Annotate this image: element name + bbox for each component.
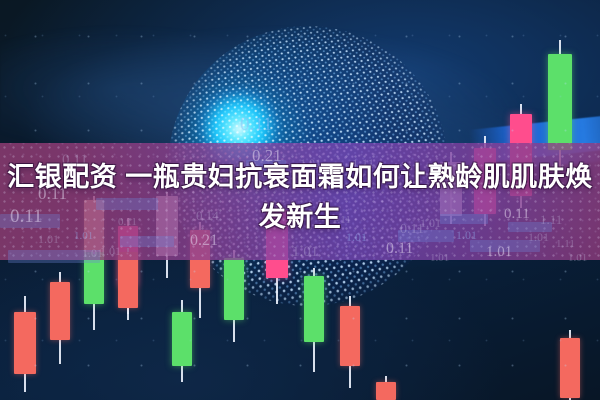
price-number: 0.11 xyxy=(240,114,273,136)
price-number: 1.01 xyxy=(430,252,449,264)
data-bar xyxy=(120,236,174,247)
price-number: 1.01 xyxy=(292,244,318,261)
page-title: 汇银配资 一瓶贵妇抗衰面霜如何让熟龄肌肌肤焕发新生 xyxy=(0,157,600,237)
price-number: 1.01 xyxy=(100,244,121,259)
price-number: 1.01 xyxy=(568,252,587,264)
price-number: 1.01 xyxy=(486,244,512,261)
price-number: 1.11 xyxy=(556,238,575,250)
price-number: 0.11 xyxy=(386,240,413,258)
banner-image: 0.110.110.111.011.011.010.111.010.210.11… xyxy=(0,0,600,400)
